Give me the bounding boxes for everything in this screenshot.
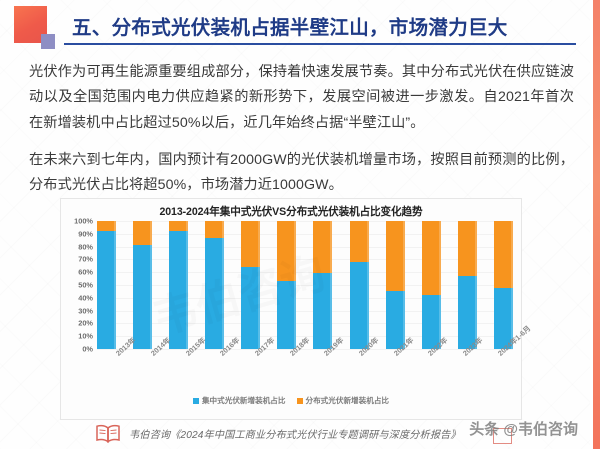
y-axis-tick-label: 80% <box>78 242 93 251</box>
watermark-text: 头条 @韦伯咨询 <box>469 418 578 439</box>
bar-segment-centralized[interactable] <box>205 238 224 349</box>
chart-plot-area: 100%90%80%70%60%50%40%30%20%10%0% <box>97 221 513 349</box>
legend-label: 分布式光伏新增装机占比 <box>306 395 390 406</box>
bar-segment-distributed[interactable] <box>97 221 116 231</box>
title-underline <box>64 43 576 45</box>
stacked-bar[interactable] <box>422 221 441 349</box>
bar-segment-centralized[interactable] <box>169 231 188 349</box>
y-axis-tick-label: 90% <box>78 229 93 238</box>
bar-segment-distributed[interactable] <box>205 221 224 238</box>
stacked-bar[interactable] <box>313 221 332 349</box>
legend-label: 集中式光伏新增装机占比 <box>202 395 286 406</box>
stacked-bar[interactable] <box>133 221 152 349</box>
chart-legend: 集中式光伏新增装机占比分布式光伏新增装机占比 <box>61 395 521 406</box>
bar-segment-distributed[interactable] <box>277 221 296 281</box>
bar-segment-distributed[interactable] <box>458 221 477 276</box>
stacked-bar[interactable] <box>458 221 477 349</box>
bar-segment-centralized[interactable] <box>350 262 369 349</box>
bar-segment-distributed[interactable] <box>313 221 332 273</box>
legend-item[interactable]: 集中式光伏新增装机占比 <box>193 395 286 406</box>
stacked-bar[interactable] <box>97 221 116 349</box>
stacked-bar[interactable] <box>494 221 513 349</box>
bar-segment-centralized[interactable] <box>133 245 152 349</box>
y-axis-tick-label: 60% <box>78 268 93 277</box>
decoration-square-small <box>41 34 55 49</box>
stacked-bar[interactable] <box>169 221 188 349</box>
y-axis-tick-label: 0% <box>82 345 93 354</box>
open-book-icon <box>95 424 121 443</box>
bar-segment-distributed[interactable] <box>169 221 188 231</box>
y-axis-tick-label: 50% <box>78 281 93 290</box>
y-axis-tick-label: 30% <box>78 306 93 315</box>
y-axis-tick-label: 40% <box>78 293 93 302</box>
legend-item[interactable]: 分布式光伏新增装机占比 <box>297 395 390 406</box>
bar-segment-distributed[interactable] <box>494 221 513 288</box>
bar-segment-distributed[interactable] <box>386 221 405 291</box>
bar-segment-centralized[interactable] <box>97 231 116 349</box>
header-decoration <box>14 6 62 52</box>
body-paragraph-1: 光伏作为可再生能源重要组成部分，保持着快速发展节奏。其中分布式光伏在供应链波动以… <box>29 60 574 136</box>
stacked-bar[interactable] <box>386 221 405 349</box>
chart-panel: 2013-2024年集中式光伏VS分布式光伏装机占比变化趋势 100%90%80… <box>60 198 522 420</box>
bar-segment-centralized[interactable] <box>313 273 332 349</box>
legend-swatch <box>297 398 303 404</box>
stacked-bar[interactable] <box>277 221 296 349</box>
y-axis-tick-label: 10% <box>78 332 93 341</box>
bar-segment-distributed[interactable] <box>422 221 441 295</box>
bar-segment-distributed[interactable] <box>133 221 152 245</box>
body-paragraph-2: 在未来六到七年内，国内预计有2000GW的光伏装机增量市场，按照目前预测的比例，… <box>29 148 574 199</box>
y-axis-tick-label: 20% <box>78 319 93 328</box>
bar-segment-centralized[interactable] <box>277 281 296 349</box>
stacked-bar[interactable] <box>241 221 260 349</box>
chart-bars <box>97 221 513 349</box>
footer: 韦伯咨询《2024年中国工商业分布式光伏行业专题调研与深度分析报告》 <box>95 424 461 443</box>
y-axis-tick-label: 100% <box>74 217 93 226</box>
page-title: 五、分布式光伏装机占据半壁江山，市场潜力巨大 <box>72 11 572 40</box>
y-axis-tick-label: 70% <box>78 255 93 264</box>
stacked-bar[interactable] <box>205 221 224 349</box>
chart-x-axis: 2013年2014年2015年2016年2017年2018年2019年2020年… <box>97 351 513 391</box>
chart-title: 2013-2024年集中式光伏VS分布式光伏装机占比变化趋势 <box>61 204 521 219</box>
bar-segment-distributed[interactable] <box>241 221 260 267</box>
bar-segment-centralized[interactable] <box>241 267 260 349</box>
footer-source-text: 韦伯咨询《2024年中国工商业分布式光伏行业专题调研与深度分析报告》 <box>129 426 461 441</box>
legend-swatch <box>193 398 199 404</box>
bar-segment-distributed[interactable] <box>350 221 369 262</box>
right-edge-stripe <box>593 0 600 449</box>
stacked-bar[interactable] <box>350 221 369 349</box>
